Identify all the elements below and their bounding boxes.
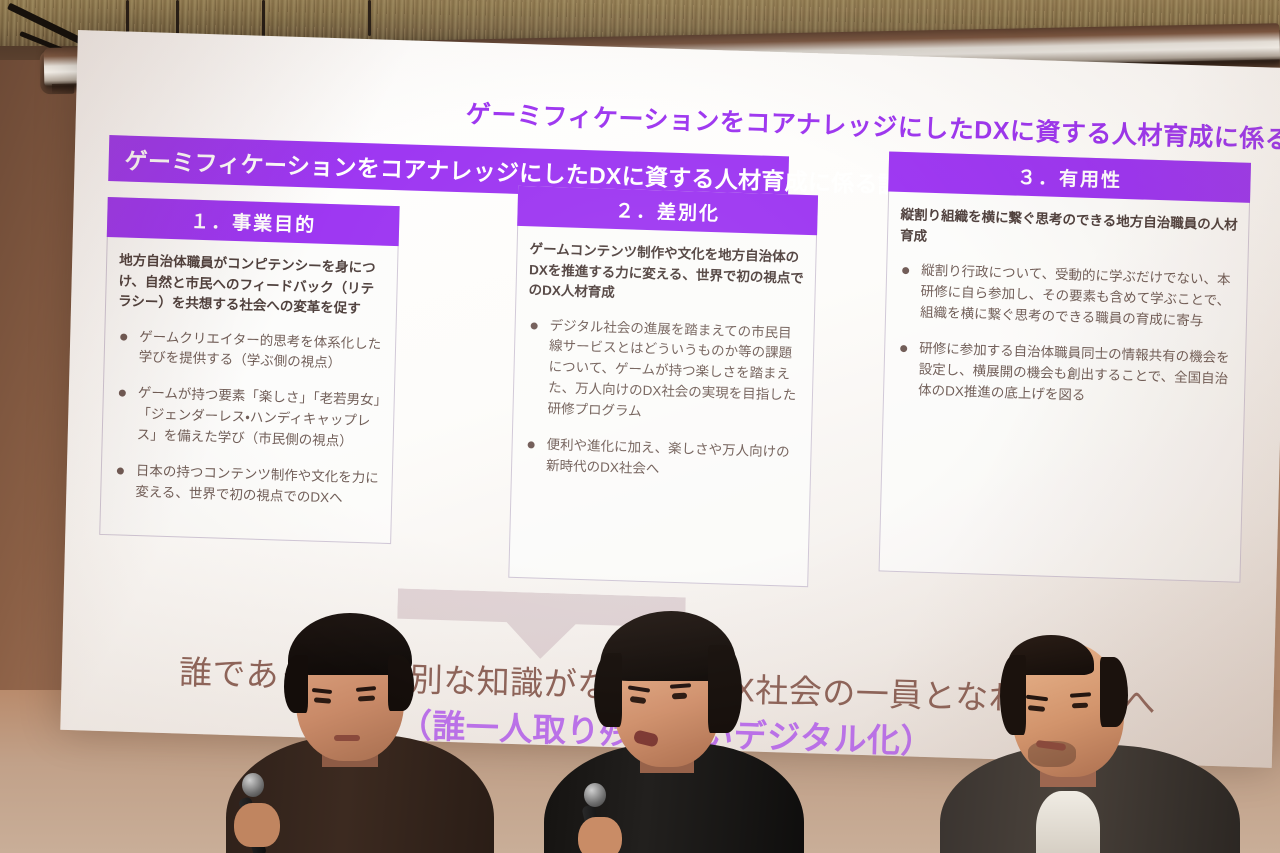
panelist-hair-side [708,645,742,733]
panelist-hand [578,817,622,853]
column-body: ゲームコンテンツ制作や文化を地方自治体のDXを推進する力に変える、世界で初の視点… [509,227,816,586]
panelist-eye [672,693,687,700]
column-usefulness: ３．有用性 縦割り組織を横に繋ぐ思考のできる地方自治職員の人材育成 縦割り行政に… [879,152,1251,583]
column-header-label: ２．差別化 [615,195,721,225]
column-body: 縦割り組織を横に繋ぐ思考のできる地方自治職員の人材育成 縦割り行政について、受動… [880,193,1249,582]
list-item: 日本の持つコンテンツ制作や文化を力に変える、世界で初の視点でのDXへ [113,460,382,510]
column-differentiation: ２．差別化 ゲームコンテンツ制作や文化を地方自治体のDXを推進する力に変える、世… [508,186,818,587]
column-lead-text: 縦割り組織を横に繋ぐ思考のできる地方自治職員の人材育成 [900,205,1239,257]
panelist-hair-side [284,655,308,713]
panelist-left [236,653,486,853]
panelist-right [940,638,1230,853]
photo-stage: ゲーミフィケーションをコアナレッジにしたDXに資する人材育成に係る調査及び検討会… [0,0,1280,853]
panelist-hair-side [1000,655,1026,735]
panelist-shirt [1036,791,1100,853]
column-header-label: １．事業目的 [190,206,317,237]
list-item: デジタル社会の進展を踏まえての市民目線サービスとはどういうものか等の課題について… [525,315,804,428]
panelist-mouth [334,735,360,741]
ceiling-rod [368,0,371,36]
column-bullet-list: デジタル社会の進展を踏まえての市民目線サービスとはどういうものか等の課題について… [524,315,804,485]
panelist-hair-side [1100,657,1128,727]
list-item: ゲームクリエイター的思考を体系化した学びを提供する（学ぶ側の視点） [116,326,385,376]
list-item: 縦割り行政について、受動的に学ぶだけでない、本研修に自ら参加し、その要素も含めて… [898,260,1237,333]
panelist-hand [234,803,280,847]
column-lead-text: ゲームコンテンツ制作や文化を地方自治体のDXを推進する力に変える、世界で初の視点… [528,239,805,309]
panelist-hair-side [594,653,622,727]
panelist-center [548,643,798,853]
column-body: 地方自治体職員がコンピテンシーを身につけ、自然と市民へのフィードバック（リテラシ… [100,238,397,543]
column-bullet-list: ゲームクリエイター的思考を体系化した学びを提供する（学ぶ側の視点） ゲームが持つ… [113,326,385,511]
microphone-icon [584,783,606,807]
panelist-eye [1072,703,1088,709]
slide-title: ゲーミフィケーションをコアナレッジにしたDXに資する人材育成に係る調査及び検討会 [466,94,1227,154]
list-item: ゲームが持つ要素「楽しさ」「老若男女」「ジェンダーレス・ハンディキャップレス」を… [114,383,383,454]
column-lead-text: 地方自治体職員がコンピテンシーを身につけ、自然と市民へのフィードバック（リテラシ… [118,250,387,320]
microphone-icon [242,773,264,797]
ceiling-rod [262,0,265,40]
column-bullet-list: 縦割り行政について、受動的に学ぶだけでない、本研修に自ら参加し、その要素も含めて… [896,260,1237,411]
column-business-purpose: １．事業目的 地方自治体職員がコンピテンシーを身につけ、自然と市民へのフィードバ… [99,197,399,544]
column-header-label: ３．有用性 [1017,162,1123,192]
list-item: 便利や進化に加え、楽しさや万人向けの新時代のDX社会へ [524,434,801,484]
list-item: 研修に参加する自治体職員同士の情報共有の機会を設定し、横展開の機会も創出すること… [896,338,1235,411]
